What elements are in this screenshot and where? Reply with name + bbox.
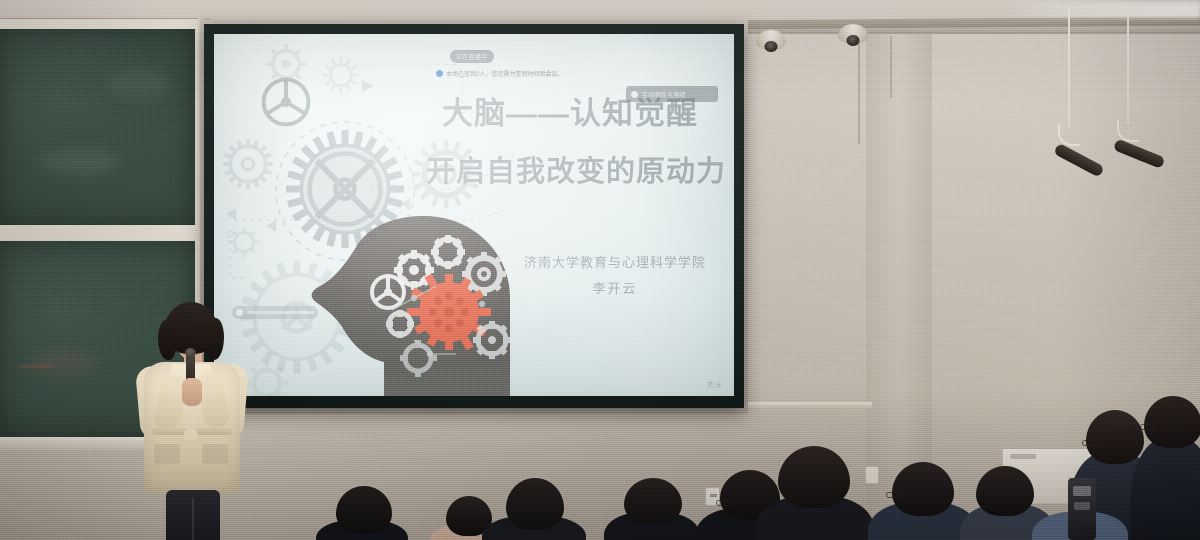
slide-organization: 济南大学教育与心理科学学院 [510, 252, 720, 271]
projection-screen: 大脑——认知觉醒 开启自我改变的原动力 济南大学教育与心理科学学院 李开云 正在… [214, 34, 734, 396]
slide-watermark: 希沃 [707, 380, 722, 390]
live-status-badge[interactable]: 正在直播中 [450, 50, 494, 63]
chalkboard-panel-top [0, 29, 195, 225]
chalkboard-mark [19, 365, 53, 368]
lecture-hall-photo: 大脑——认知觉醒 开启自我改变的原动力 济南大学教育与心理科学学院 李开云 正在… [0, 0, 1200, 540]
audience-head [336, 486, 392, 534]
microphone-head-icon [185, 348, 196, 357]
camera-rig [1068, 478, 1096, 540]
slide-presenter-name: 李开云 [510, 278, 720, 297]
ceiling-camera-icon [838, 24, 868, 44]
glasses-icon [886, 492, 902, 498]
brain-head-silhouette [296, 212, 526, 396]
wall-outlet [865, 466, 879, 484]
interaction-icon [631, 91, 638, 98]
notice-text: 本场已签到2人，您还需为签到时间到会议。 [446, 69, 563, 78]
interaction-toolbar-label: 互动测验 礼物墙 [642, 90, 686, 99]
info-icon [436, 70, 443, 77]
trouser-seam [192, 498, 194, 540]
presenter [128, 300, 252, 540]
live-badge-label: 正在直播中 [456, 52, 488, 61]
audience-head [624, 478, 682, 524]
hair-top [164, 302, 218, 354]
glasses-icon [1082, 440, 1098, 446]
wall-pillar [866, 34, 932, 504]
mount-rod [1068, 8, 1070, 128]
audience-head [778, 446, 850, 508]
glasses-icon [716, 500, 732, 506]
glasses-icon [1140, 424, 1156, 430]
slide-subtitle: 开启自我改变的原动力 [426, 148, 734, 190]
notice-bar[interactable]: 本场已签到2人，您还需为签到时间到会议。 [436, 68, 563, 79]
pocket-right [202, 444, 228, 464]
pocket-left [154, 444, 180, 464]
wall-crack [858, 40, 860, 144]
audience-head [506, 478, 564, 530]
audience-head [892, 462, 954, 516]
radiator-vent [1010, 454, 1036, 459]
ceiling-camera-icon [756, 30, 786, 50]
audience-head [1144, 396, 1200, 448]
ceiling-light [1010, 2, 1200, 18]
hands [182, 378, 202, 406]
audience-head [976, 466, 1034, 516]
interaction-toolbar[interactable]: 互动测验 礼物墙 [626, 86, 718, 102]
belt-knot [184, 428, 198, 440]
mount-rod [1127, 4, 1129, 124]
audience-head [1086, 410, 1144, 464]
progress-slider[interactable] [247, 311, 314, 314]
wall-ledge [744, 402, 872, 409]
